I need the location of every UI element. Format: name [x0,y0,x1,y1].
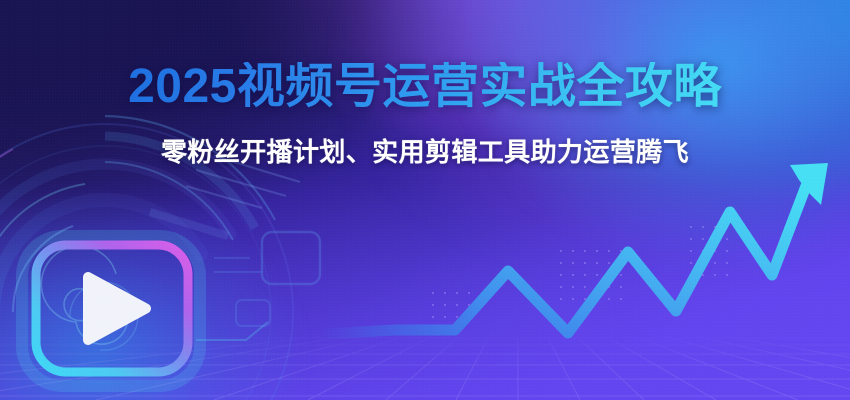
banner-title: 2025视频号运营实战全攻略 [128,62,722,113]
subtitle-container: 零粉丝开播计划、实用剪辑工具助力运营腾飞 [0,132,850,169]
promo-banner: 2025视频号运营实战全攻略 零粉丝开播计划、实用剪辑工具助力运营腾飞 [0,0,850,400]
title-container: 2025视频号运营实战全攻略 [0,62,850,113]
banner-subtitle: 零粉丝开播计划、实用剪辑工具助力运营腾飞 [161,132,689,169]
